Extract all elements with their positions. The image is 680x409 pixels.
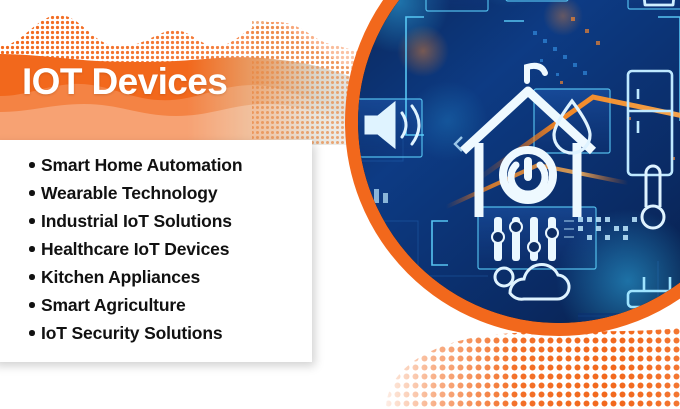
bullet-icon bbox=[29, 274, 35, 280]
feature-list: Smart Home Automation Wearable Technolog… bbox=[0, 140, 312, 347]
list-item-label: Wearable Technology bbox=[41, 183, 217, 203]
bullet-icon bbox=[29, 190, 35, 196]
bullet-icon bbox=[29, 302, 35, 308]
list-item: Smart Home Automation bbox=[0, 151, 312, 179]
list-item-label: IoT Security Solutions bbox=[41, 323, 222, 343]
iot-photo-circle bbox=[345, 0, 680, 336]
feature-list-card: Smart Home Automation Wearable Technolog… bbox=[0, 140, 312, 362]
list-item-label: Smart Agriculture bbox=[41, 295, 186, 315]
bullet-icon bbox=[29, 218, 35, 224]
page-title: IOT Devices bbox=[22, 63, 227, 100]
bullet-icon bbox=[29, 162, 35, 168]
list-item: Wearable Technology bbox=[0, 179, 312, 207]
list-item: IoT Security Solutions bbox=[0, 319, 312, 347]
list-item: Kitchen Appliances bbox=[0, 263, 312, 291]
iot-photo bbox=[358, 0, 680, 323]
list-item-label: Industrial IoT Solutions bbox=[41, 211, 232, 231]
poster-canvas: IOT Devices Smart Home Automation Wearab… bbox=[0, 0, 680, 409]
list-item-label: Smart Home Automation bbox=[41, 155, 242, 175]
list-item: Smart Agriculture bbox=[0, 291, 312, 319]
iot-photo-illustration bbox=[358, 0, 680, 323]
bullet-icon bbox=[29, 330, 35, 336]
list-item: Healthcare IoT Devices bbox=[0, 235, 312, 263]
list-item-label: Kitchen Appliances bbox=[41, 267, 200, 287]
bullet-icon bbox=[29, 246, 35, 252]
list-item-label: Healthcare IoT Devices bbox=[41, 239, 229, 259]
list-item: Industrial IoT Solutions bbox=[0, 207, 312, 235]
